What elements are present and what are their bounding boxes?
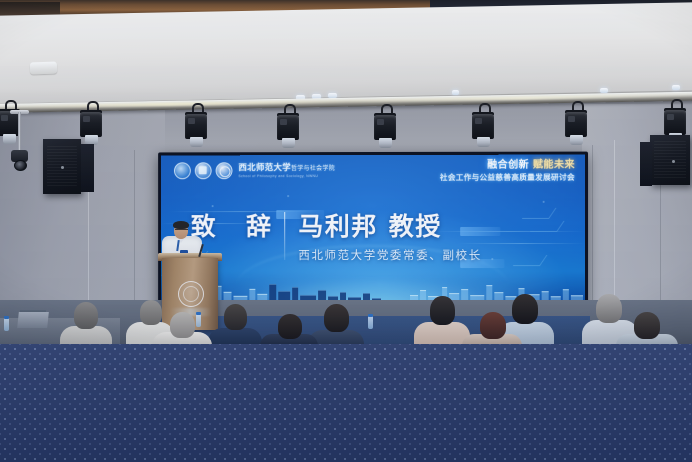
water-bottle xyxy=(368,316,373,329)
slogan-line-1: 融合创新 赋能未来 xyxy=(440,160,575,172)
audience-head xyxy=(512,294,538,324)
stage-light xyxy=(78,101,104,147)
audience-head xyxy=(596,294,622,323)
bottom-patterned-band xyxy=(0,344,692,462)
university-name: 西北师范大学 xyxy=(238,163,291,173)
stage-light xyxy=(183,103,209,149)
stage-light xyxy=(372,104,398,150)
ceiling-downlight xyxy=(672,85,680,90)
school-name: 哲学与社会学院 xyxy=(291,165,335,172)
title-divider xyxy=(284,212,285,260)
bottle-cap xyxy=(368,314,373,317)
wifi-access-point-icon xyxy=(30,62,57,75)
water-bottle xyxy=(196,314,201,327)
audience-shoulders xyxy=(208,328,262,344)
event-slogan: 融合创新 赋能未来 社会工作与公益慈善高质量发展研讨会 xyxy=(440,160,575,183)
band-sheen xyxy=(0,344,692,462)
audience-head xyxy=(430,296,455,325)
logo-mark-1-icon xyxy=(174,162,191,179)
speaker-name: 马利邦 xyxy=(298,212,377,241)
camera-mount-pole xyxy=(18,112,21,152)
water-bottle xyxy=(4,318,9,331)
audience-head xyxy=(324,304,349,332)
stage-light xyxy=(275,104,301,150)
wall-speaker-left-side xyxy=(81,144,94,192)
section-label: 致 辞 xyxy=(191,212,282,242)
bottle-cap xyxy=(4,316,9,319)
audience-head xyxy=(278,314,302,339)
speaker-academic-title: 教授 xyxy=(389,212,442,241)
speaker-led-icon xyxy=(672,160,675,163)
audience-head xyxy=(480,312,506,339)
logo-mark-3-icon xyxy=(216,162,233,179)
screen-main-title: 致 辞 马利邦教授 西北师范大学党委常委、副校长 xyxy=(191,212,482,263)
screenshot-root: 西北师范大学哲学与社会学院 School of Philosophy and S… xyxy=(0,0,692,462)
audience-shoulders xyxy=(414,322,470,344)
speaker-led-icon xyxy=(61,166,64,169)
audience-head xyxy=(74,302,98,329)
logo-mark-2-icon xyxy=(195,162,212,179)
slogan-part-2: 赋能未来 xyxy=(533,160,575,171)
speaker-name-row: 马利邦教授 xyxy=(298,212,482,242)
eyeglasses-icon xyxy=(175,229,188,233)
speaker-role: 西北师范大学党委常委、副校长 xyxy=(298,247,482,263)
audience-head xyxy=(170,312,195,338)
bottle-cap xyxy=(196,312,201,315)
presenter-hair xyxy=(173,221,189,229)
screen-header: 西北师范大学哲学与社会学院 School of Philosophy and S… xyxy=(161,155,585,186)
slogan-part-1: 融合创新 xyxy=(487,160,529,171)
university-seal-icon xyxy=(178,281,204,307)
laptop xyxy=(17,312,49,328)
ceiling-downlight xyxy=(452,90,459,95)
audience-head xyxy=(634,312,660,339)
audience-head xyxy=(140,300,162,325)
conference-hall-photo: 西北师范大学哲学与社会学院 School of Philosophy and S… xyxy=(0,0,692,344)
stage-light xyxy=(470,103,496,149)
stage-light xyxy=(563,101,589,147)
wall-speaker-right-side xyxy=(640,142,652,186)
slogan-line-2: 社会工作与公益慈善高质量发展研讨会 xyxy=(440,173,575,183)
camera-lens-icon xyxy=(14,160,27,171)
organization-logos: 西北师范大学哲学与社会学院 School of Philosophy and S… xyxy=(174,162,335,179)
university-name-row: 西北师范大学哲学与社会学院 xyxy=(238,163,335,174)
audience-head xyxy=(224,304,247,330)
speaker-grille xyxy=(654,141,686,179)
school-name-en: School of Philosophy and Sociology, NWNU xyxy=(238,174,335,179)
